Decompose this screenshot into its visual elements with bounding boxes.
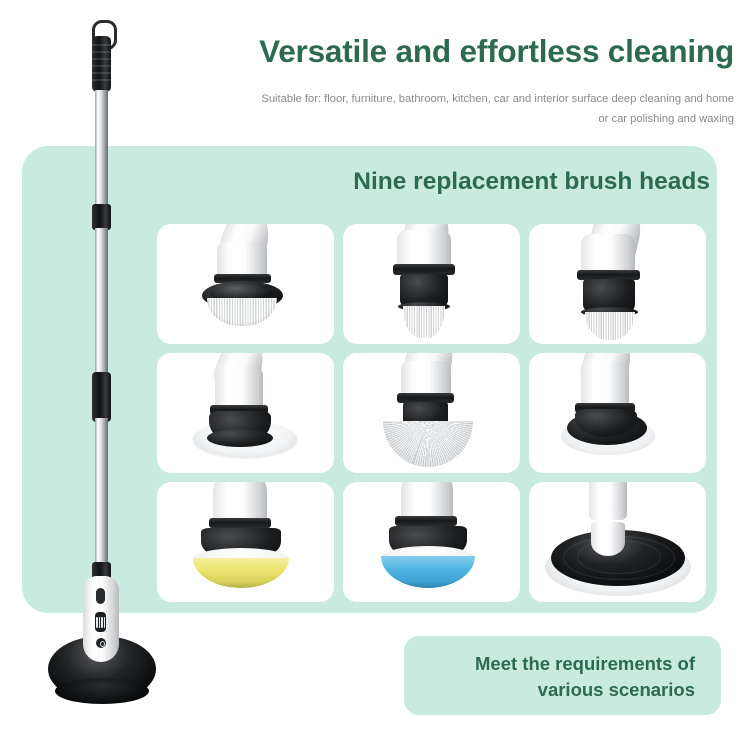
- white-backing-polishing-pad-icon: [529, 353, 706, 473]
- telescopic-pole-middle: [95, 228, 108, 376]
- subtitle-line-1: Suitable for: floor, furniture, bathroom…: [120, 90, 734, 110]
- status-badge: Meet the requirements of various scenari…: [404, 636, 721, 715]
- brush-head-card-8[interactable]: [343, 482, 520, 602]
- telescopic-pole-lower: [95, 418, 108, 568]
- blue-foam-polishing-pad-icon: [343, 482, 520, 602]
- status-badge-line-2: various scenarios: [404, 677, 695, 703]
- power-button[interactable]: [96, 638, 106, 648]
- medium-round-bristle-brush-icon: [529, 224, 706, 344]
- section-title: Nine replacement brush heads: [180, 168, 710, 196]
- brush-head-card-2[interactable]: [343, 224, 520, 344]
- product-spin-scrubber: [0, 0, 200, 750]
- motor-body: [83, 576, 119, 662]
- brush-head-grid: [157, 224, 706, 602]
- mop-head-rim: [55, 678, 149, 704]
- locking-joint-middle[interactable]: [92, 372, 111, 422]
- flared-dome-bristle-brush-icon: [343, 353, 520, 473]
- small-cone-bristle-brush-icon: [343, 224, 520, 344]
- battery-level-indicator: [95, 612, 106, 632]
- infographic-canvas: Versatile and effortless cleaning Suitab…: [0, 0, 750, 750]
- telescopic-pole-upper: [95, 90, 108, 208]
- large-black-backing-plate-icon: [529, 482, 706, 602]
- brush-head-card-9[interactable]: [529, 482, 706, 602]
- brush-head-card-5[interactable]: [343, 353, 520, 473]
- brush-head-card-6[interactable]: [529, 353, 706, 473]
- locking-joint-upper[interactable]: [92, 204, 111, 230]
- subtitle-line-2: or car polishing and waxing: [120, 110, 734, 130]
- usb-c-port-icon: [96, 588, 105, 604]
- status-badge-line-1: Meet the requirements of: [404, 651, 695, 677]
- subtitle: Suitable for: floor, furniture, bathroom…: [120, 90, 734, 129]
- brush-head-card-3[interactable]: [529, 224, 706, 344]
- rubber-grip: [92, 36, 111, 92]
- status-badge-text: Meet the requirements of various scenari…: [404, 651, 695, 704]
